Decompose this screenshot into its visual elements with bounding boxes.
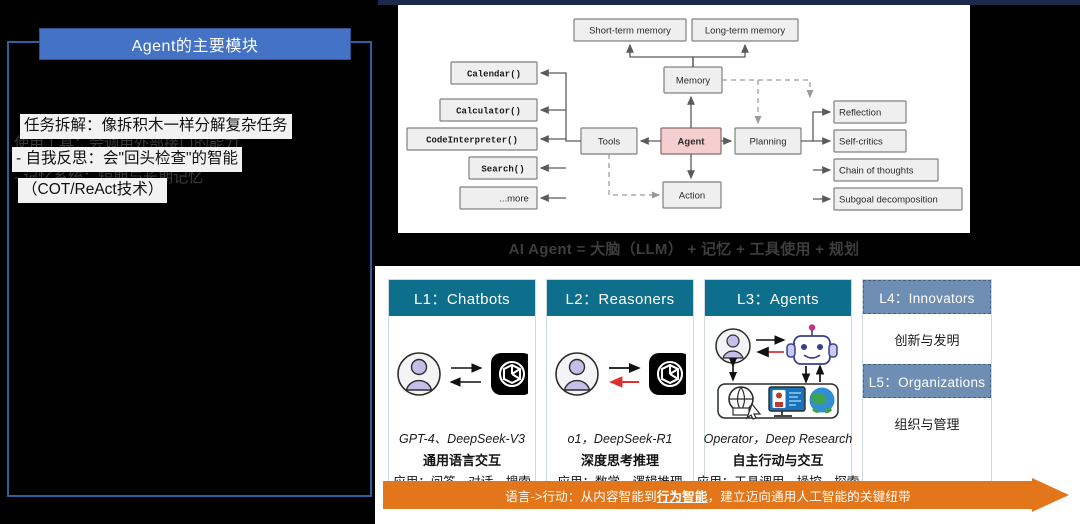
diagram-label-tools: Tools bbox=[598, 137, 620, 148]
banner-suffix: ，建立迈向通用人工智能的关键纽带 bbox=[708, 490, 911, 504]
l1-models: GPT-4、DeepSeek-V3 bbox=[399, 428, 525, 447]
banner-body: 语言->行动：从内容智能到行为智能，建立迈向通用人工智能的关键纽带 bbox=[383, 481, 1033, 509]
diagram-label-short-term-memory: Short-term memory bbox=[589, 26, 671, 37]
user-avatar-icon bbox=[716, 329, 750, 363]
diagram-label-subgoal-decomposition: Subgoal decomposition bbox=[839, 195, 938, 206]
diagram-label-chain-of-thoughts: Chain of thoughts bbox=[839, 166, 914, 177]
diagram-label-reflection: Reflection bbox=[839, 108, 881, 119]
page-title: Agent的主要模块 bbox=[39, 28, 351, 60]
l1-icon-row bbox=[396, 322, 528, 426]
l2-icon-row bbox=[554, 322, 686, 426]
diagram-label-agent: Agent bbox=[678, 137, 706, 148]
left-panel-border-box bbox=[7, 41, 372, 497]
level-card-l5-header: L5：Organizations bbox=[863, 364, 991, 398]
bullet-self-reflection: - 自我反思：会"回头检查"的智能 bbox=[12, 147, 242, 172]
bullet-cot-react: （COT/ReAct技术） bbox=[18, 178, 167, 203]
level-card-l3[interactable]: L3：Agents bbox=[704, 279, 852, 498]
l2-capability: 深度思考推理 bbox=[581, 450, 659, 469]
banner-prefix: 语言->行动：从内容智能到 bbox=[505, 490, 657, 504]
level-card-l4-body: 创新与发明 bbox=[863, 314, 991, 364]
user-avatar-icon bbox=[556, 353, 598, 395]
banner-text: 语言->行动：从内容智能到行为智能，建立迈向通用人工智能的关键纽带 bbox=[505, 486, 911, 505]
levels-panel: L1：Chatbots bbox=[375, 266, 1080, 524]
arrow-pair-icon bbox=[451, 368, 481, 382]
level-card-l4-header: L4：Innovators bbox=[863, 280, 991, 314]
l3-capability: 自主行动与交互 bbox=[732, 450, 823, 469]
level-card-l3-header: L3：Agents bbox=[705, 280, 851, 316]
level-card-stack-l4-l5[interactable]: L4：Innovators 创新与发明 L5：Organizations 组织与… bbox=[862, 279, 992, 498]
diagram-caption: AI Agent = 大脑（LLM） + 记忆 + 工具使用 + 规划 bbox=[398, 238, 970, 259]
diagram-label-action: Action bbox=[679, 191, 705, 202]
level-card-l1[interactable]: L1：Chatbots bbox=[388, 279, 536, 498]
bullet-task-decomposition: 任务拆解：像拆积木一样分解复杂任务 bbox=[20, 114, 292, 139]
computer-monitor-icon bbox=[769, 387, 805, 416]
user-avatar-icon bbox=[398, 353, 440, 395]
diagram-label-memory: Memory bbox=[676, 76, 711, 87]
banner-arrow-head bbox=[1032, 478, 1069, 512]
diagram-label-search: Search() bbox=[481, 165, 524, 175]
level-card-l2[interactable]: L2：Reasoners bbox=[546, 279, 694, 498]
diagram-label-long-term-memory: Long-term memory bbox=[705, 26, 785, 37]
l2-models: o1，DeepSeek-R1 bbox=[568, 428, 673, 447]
l3-models: Operator，Deep Research bbox=[704, 428, 853, 447]
openai-logo-icon bbox=[491, 353, 528, 395]
level-card-l1-header: L1：Chatbots bbox=[389, 280, 535, 316]
banner-emphasis: 行为智能 bbox=[657, 490, 708, 504]
level-cards-row: L1：Chatbots bbox=[388, 279, 992, 498]
diagram-label-more: ...more bbox=[499, 194, 529, 205]
level-card-l2-header: L2：Reasoners bbox=[547, 280, 693, 316]
diagram-label-codeinterpreter: CodeInterpreter() bbox=[426, 136, 518, 146]
diagram-label-planning: Planning bbox=[750, 137, 787, 148]
agent-architecture-diagram: Short-term memory Long-term memory Memor… bbox=[398, 5, 970, 233]
left-slide-panel: Agent的主要模块 使用工具：会调用外部接口的能力 - 记忆系统：短期与长期记… bbox=[0, 0, 378, 524]
l1-capability: 通用语言交互 bbox=[423, 450, 501, 469]
level-card-l5-body: 组织与管理 bbox=[863, 398, 991, 448]
diagram-label-calculator: Calculator() bbox=[456, 107, 521, 117]
l3-icon-row bbox=[708, 322, 848, 426]
robot-icon bbox=[787, 324, 837, 364]
diagram-label-calendar: Calendar() bbox=[467, 70, 521, 80]
earth-globe-icon bbox=[810, 388, 835, 414]
diagram-label-self-critics: Self-critics bbox=[839, 137, 883, 148]
openai-logo-icon bbox=[649, 353, 686, 395]
bottom-banner: 语言->行动：从内容智能到行为智能，建立迈向通用人工智能的关键纽带 bbox=[383, 478, 1069, 512]
